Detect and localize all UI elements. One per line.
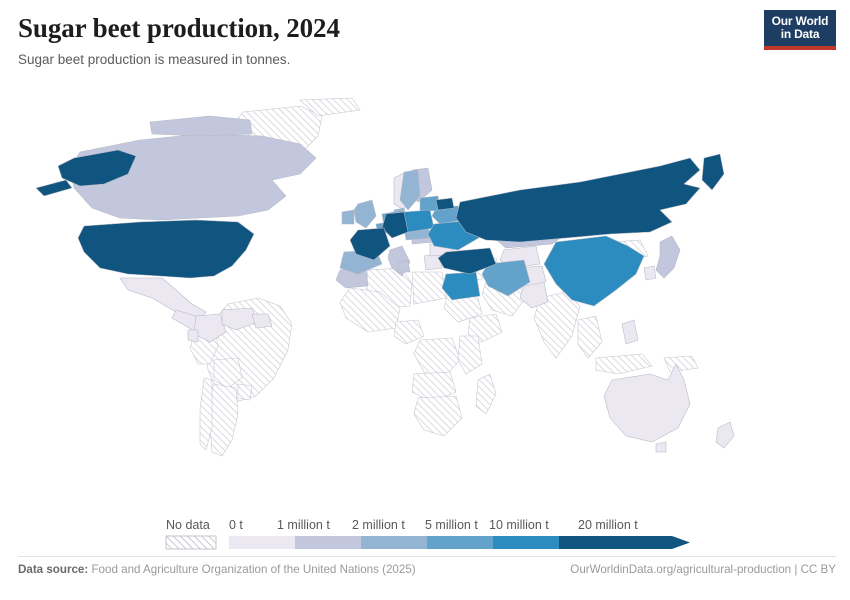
country-russia-kamchatka: [702, 154, 724, 190]
country-png: [664, 356, 698, 372]
country-japan: [656, 236, 680, 278]
legend-tick-2: 2 million t: [352, 518, 405, 532]
country-argentina: [208, 384, 238, 456]
legend-no-data-label: No data: [166, 518, 210, 532]
chart-subtitle: Sugar beet production is measured in ton…: [18, 51, 832, 69]
legend-bin-5[interactable]: [559, 536, 690, 549]
attribution-link[interactable]: OurWorldinData.org/agricultural-producti…: [570, 563, 836, 576]
legend-bin-4[interactable]: [493, 536, 559, 549]
legend-bin-1[interactable]: [295, 536, 361, 549]
legend-tick-3: 5 million t: [425, 518, 478, 532]
country-greece-balkans: [424, 254, 442, 270]
country-indonesia: [596, 354, 652, 374]
country-tunisia: [398, 260, 410, 272]
country-russia: [456, 158, 700, 242]
page-title: Sugar beet production, 2024: [18, 14, 832, 44]
country-southern-africa: [414, 396, 462, 436]
country-unitedkingdom: [354, 200, 376, 228]
country-australia: [604, 364, 690, 442]
legend-swatch-no-data[interactable]: [166, 536, 216, 549]
data-source-value: Food and Agriculture Organization of the…: [91, 563, 415, 576]
owid-map-chart: Sugar beet production, 2024 Sugar beet p…: [0, 0, 850, 600]
chart-footer: Data source: Food and Agriculture Organi…: [18, 563, 836, 576]
country-newzealand: [716, 422, 734, 448]
country-unitedstates: [78, 220, 254, 278]
legend-bin-2[interactable]: [361, 536, 427, 549]
country-usa-aleutians: [36, 180, 72, 196]
country-drc: [414, 338, 460, 378]
footer-divider: [18, 556, 836, 557]
world-map[interactable]: [0, 92, 850, 502]
country-nigeria: [394, 320, 424, 344]
country-myanmar-thai: [578, 316, 602, 358]
legend-tick-0: 0 t: [229, 518, 243, 532]
country-ecuador: [188, 330, 198, 342]
logo-line-2: in Data: [781, 28, 820, 41]
map-legend[interactable]: No data 0 t 1 million t 2 million t 5 mi…: [0, 512, 850, 554]
country-philippines: [622, 320, 638, 344]
country-russia-kaliningrad: [436, 198, 454, 210]
legend-bin-0[interactable]: [229, 536, 295, 549]
country-madagascar: [476, 374, 496, 414]
legend-tick-1: 1 million t: [277, 518, 330, 532]
legend-tick-5: 20 million t: [578, 518, 638, 532]
chart-header: Sugar beet production, 2024 Sugar beet p…: [18, 14, 832, 68]
country-southkorea: [644, 266, 656, 280]
country-eastafrica: [458, 336, 482, 374]
country-paraguay-uruguay: [238, 384, 252, 400]
owid-logo[interactable]: Our World in Data: [764, 10, 836, 50]
country-chile: [200, 378, 212, 450]
country-ireland: [342, 210, 354, 224]
legend-tick-4: 10 million t: [489, 518, 549, 532]
country-libya: [412, 272, 446, 304]
data-source-label: Data source:: [18, 563, 88, 576]
country-canada-arctic: [150, 116, 252, 136]
country-tasmania: [656, 442, 666, 452]
data-source: Data source: Food and Agriculture Organi…: [18, 563, 416, 576]
legend-bin-3[interactable]: [427, 536, 493, 549]
